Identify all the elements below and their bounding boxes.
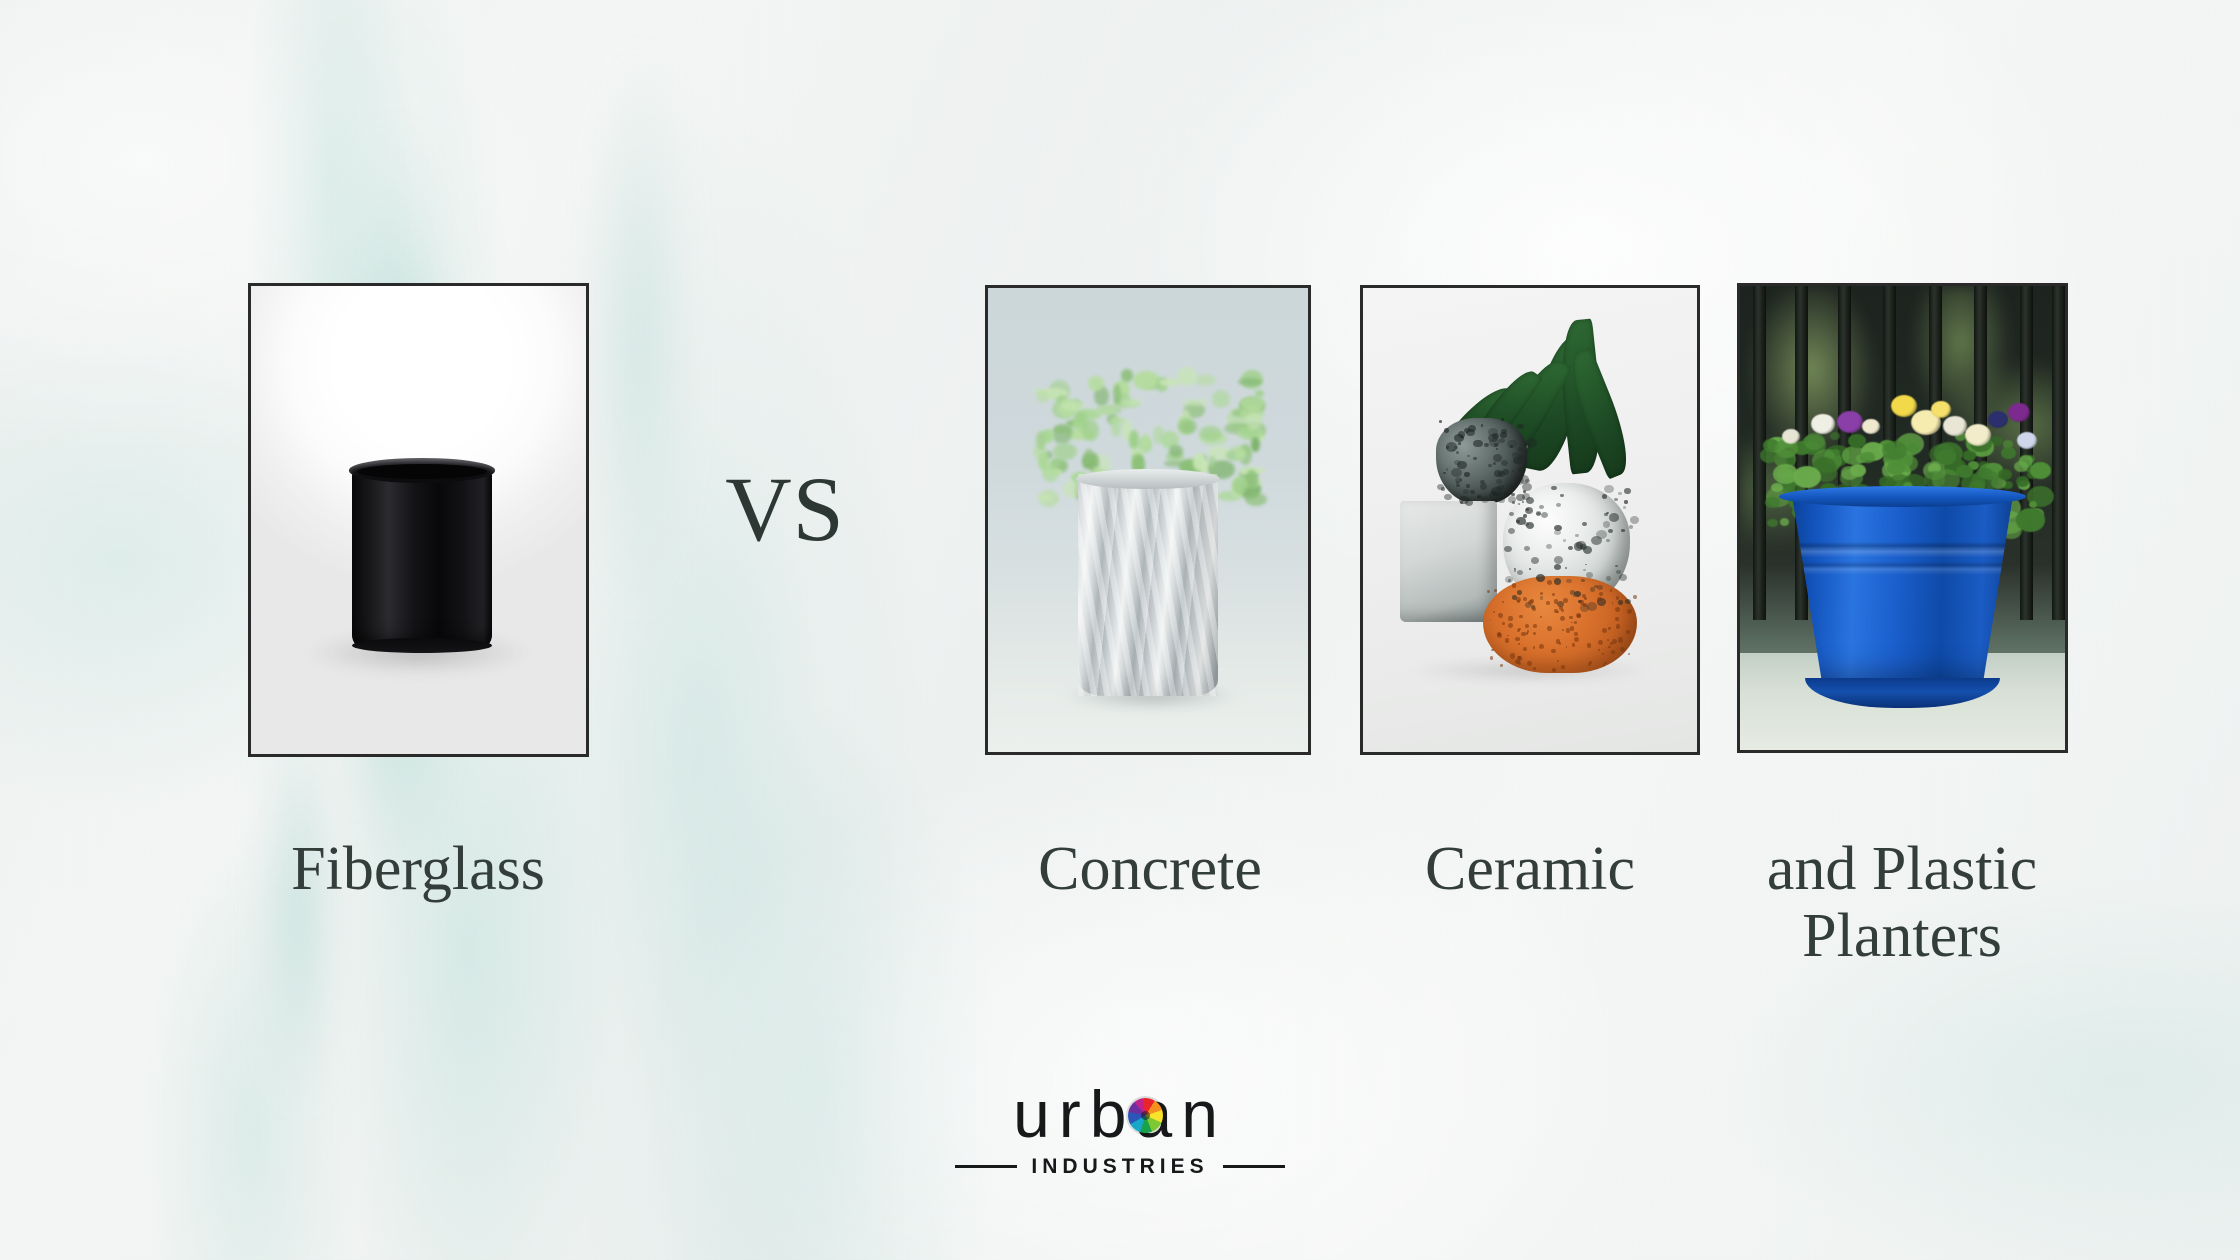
foliage-leaf bbox=[1130, 448, 1144, 455]
ceramic-orange-fleck bbox=[1626, 630, 1630, 634]
ceramic-speck bbox=[1512, 452, 1519, 458]
pansy-bloom bbox=[1931, 401, 1951, 418]
ceramic-speck bbox=[1518, 467, 1525, 473]
ceramic-orange-fleck bbox=[1633, 595, 1637, 599]
ceramic-speck bbox=[1439, 420, 1442, 423]
versus-label: VS bbox=[700, 463, 870, 555]
planter-leaf bbox=[2001, 447, 2016, 459]
pansy-bloom bbox=[2008, 403, 2030, 422]
ceramic-speck bbox=[1590, 587, 1596, 592]
ceramic-speck bbox=[1615, 565, 1618, 567]
planter-leaf bbox=[1767, 519, 1778, 528]
ceramic-orange-fleck bbox=[1494, 589, 1497, 592]
ceramic-speck bbox=[1510, 445, 1513, 448]
ceramic-speck bbox=[1517, 590, 1522, 594]
ceramic-speck bbox=[1444, 428, 1449, 432]
ceramic-orange-fleck bbox=[1628, 653, 1630, 655]
ceramic-orange-fleck bbox=[1510, 653, 1515, 658]
product-image-ceramic bbox=[1360, 285, 1700, 755]
ceramic-orange-fleck bbox=[1608, 627, 1610, 629]
logo-wordmark-letter-a-wrap: a bbox=[1135, 1081, 1181, 1147]
ceramic-speck bbox=[1604, 513, 1608, 516]
foliage-leaf bbox=[1255, 390, 1264, 396]
pansy-bloom bbox=[1862, 419, 1880, 434]
planter-leaf bbox=[1793, 466, 1821, 488]
ceramic-orange-fleck bbox=[1551, 649, 1555, 653]
plastic-photo bbox=[1740, 286, 2065, 750]
ceramic-orange-fleck bbox=[1500, 664, 1503, 667]
ceramic-speck bbox=[1574, 591, 1581, 597]
ceramic-speck bbox=[1498, 497, 1504, 502]
ceramic-orange-fleck bbox=[1515, 637, 1519, 641]
ceramic-speck bbox=[1618, 492, 1622, 495]
foliage-leaf bbox=[1195, 374, 1216, 386]
planter-leaf bbox=[1963, 450, 1977, 461]
ceramic-speck bbox=[1461, 437, 1464, 439]
ceramic-orange-fleck bbox=[1599, 592, 1603, 596]
foliage-leaf bbox=[1082, 420, 1099, 441]
fiberglass-photo bbox=[251, 286, 586, 754]
ceramic-speck bbox=[1517, 447, 1523, 452]
ceramic-speck bbox=[1473, 457, 1477, 460]
logo-wordmark: urban bbox=[955, 1080, 1285, 1148]
ceramic-orange-fleck bbox=[1610, 642, 1613, 645]
ceramic-orange-fleck bbox=[1588, 663, 1591, 666]
ceramic-speck bbox=[1581, 579, 1584, 582]
ceramic-speck bbox=[1554, 564, 1561, 570]
product-image-concrete bbox=[985, 285, 1311, 755]
ceramic-speck bbox=[1526, 522, 1534, 529]
ceramic-orange-fleck bbox=[1597, 597, 1601, 601]
ceramic-speck bbox=[1609, 513, 1619, 521]
foliage-leaf bbox=[1121, 399, 1142, 406]
ceramic-orange-fleck bbox=[1518, 656, 1522, 660]
ceramic-orange-fleck bbox=[1521, 632, 1526, 637]
ceramic-orange-fleck bbox=[1557, 660, 1559, 662]
ceramic-speck bbox=[1496, 479, 1502, 484]
ceramic-orange-fleck bbox=[1518, 643, 1520, 645]
pansy-bloom bbox=[1943, 416, 1967, 436]
planter-leaf bbox=[2029, 501, 2037, 508]
ceramic-speck bbox=[1441, 487, 1445, 491]
foliage-leaf bbox=[1037, 493, 1053, 502]
ceramic-orange-fleck bbox=[1517, 629, 1520, 632]
ceramic-speck bbox=[1606, 539, 1609, 542]
ceramic-orange-fleck bbox=[1607, 639, 1609, 641]
ceramic-speck bbox=[1541, 512, 1548, 518]
logo-tagline-row: INDUSTRIES bbox=[955, 1156, 1285, 1177]
fiberglass-pot-body bbox=[352, 466, 493, 649]
ceramic-speck bbox=[1629, 525, 1634, 529]
foliage-leaf bbox=[1084, 449, 1094, 465]
ceramic-photo bbox=[1363, 288, 1697, 752]
foliage-leaf bbox=[1245, 493, 1266, 506]
foliage-leaf bbox=[1053, 443, 1077, 460]
railing-bar bbox=[2052, 286, 2065, 620]
foliage-leaf bbox=[1177, 367, 1197, 386]
foliage-leaf bbox=[1169, 445, 1183, 457]
foliage-leaf bbox=[1042, 463, 1059, 483]
ceramic-speck bbox=[1518, 503, 1520, 505]
ceramic-speck bbox=[1497, 485, 1503, 490]
ceramic-speck bbox=[1504, 546, 1512, 552]
planter-leaf bbox=[2016, 508, 2046, 532]
ceramic-orange-fleck bbox=[1508, 623, 1513, 628]
concrete-photo bbox=[988, 288, 1308, 752]
ceramic-pot-square bbox=[1400, 501, 1497, 622]
ceramic-speck bbox=[1477, 495, 1481, 499]
ceramic-speck bbox=[1473, 440, 1482, 448]
planter-leaf bbox=[1765, 497, 1779, 509]
ceramic-orange-fleck bbox=[1574, 632, 1578, 636]
ceramic-orange-fleck bbox=[1561, 665, 1564, 668]
ceramic-speck bbox=[1517, 570, 1523, 575]
foliage-leaf bbox=[1193, 453, 1206, 471]
ceramic-speck bbox=[1512, 501, 1515, 504]
ceramic-speck bbox=[1519, 454, 1523, 458]
ceramic-speck bbox=[1563, 539, 1566, 542]
ceramic-orange-fleck bbox=[1540, 592, 1543, 595]
foliage-leaf bbox=[1113, 384, 1121, 404]
ceramic-speck bbox=[1587, 602, 1597, 611]
ceramic-speck bbox=[1526, 438, 1537, 447]
logo-wordmark-part-1: urb bbox=[1013, 1081, 1135, 1147]
logo-wordmark-part-3: n bbox=[1181, 1081, 1227, 1147]
foliage-leaf bbox=[1159, 379, 1179, 386]
ceramic-orange-fleck bbox=[1519, 615, 1523, 619]
ceramic-speck bbox=[1556, 503, 1561, 507]
foliage-leaf bbox=[1246, 412, 1262, 428]
planter-leaf bbox=[1882, 441, 1907, 461]
ceramic-speck bbox=[1464, 472, 1469, 477]
pansy-bloom bbox=[1811, 414, 1835, 434]
ceramic-orange-fleck bbox=[1560, 616, 1565, 621]
ceramic-orange-fleck bbox=[1574, 637, 1579, 642]
ceramic-orange-fleck bbox=[1615, 607, 1620, 612]
foliage-leaf bbox=[1095, 406, 1116, 414]
ceramic-orange-fleck bbox=[1490, 656, 1494, 660]
ceramic-orange-fleck bbox=[1602, 628, 1607, 633]
foliage-leaf bbox=[1036, 431, 1046, 450]
foliage-leaf bbox=[1251, 437, 1260, 452]
ceramic-speck bbox=[1467, 455, 1470, 457]
ceramic-speck bbox=[1444, 494, 1452, 500]
ceramic-speck bbox=[1500, 432, 1506, 437]
logo-rule-left bbox=[955, 1165, 1017, 1168]
ceramic-speck bbox=[1509, 512, 1514, 516]
ceramic-orange-fleck bbox=[1547, 626, 1552, 631]
foliage-leaf bbox=[1232, 477, 1247, 495]
ceramic-orange-fleck bbox=[1547, 580, 1552, 585]
planter-leaf bbox=[1830, 432, 1840, 440]
ceramic-speck bbox=[1618, 600, 1623, 604]
ceramic-speck bbox=[1630, 516, 1639, 524]
logo-tagline: INDUSTRIES bbox=[1031, 1156, 1208, 1177]
ceramic-speck bbox=[1488, 464, 1491, 467]
ceramic-orange-fleck bbox=[1563, 598, 1568, 603]
planter-leaf bbox=[1848, 434, 1866, 448]
ceramic-speck bbox=[1576, 541, 1586, 550]
ceramic-orange-fleck bbox=[1523, 647, 1527, 651]
ceramic-speck bbox=[1591, 536, 1602, 545]
product-image-fiberglass bbox=[248, 283, 589, 757]
planter-leaf bbox=[1860, 452, 1875, 464]
foliage-leaf bbox=[1212, 390, 1231, 407]
fiberglass-pot-opening bbox=[357, 464, 487, 479]
foliage-leaf bbox=[1178, 419, 1198, 435]
ceramic-orange-fleck bbox=[1574, 621, 1577, 624]
foliage-leaf bbox=[1088, 376, 1104, 392]
ceramic-speck bbox=[1524, 546, 1530, 551]
pansy-bloom bbox=[1837, 411, 1863, 433]
ceramic-speck bbox=[1480, 483, 1487, 489]
foliage-leaf bbox=[1054, 426, 1072, 433]
ceramic-speck bbox=[1540, 596, 1544, 599]
ceramic-speck bbox=[1466, 484, 1471, 488]
ceramic-orange-fleck bbox=[1533, 646, 1536, 649]
ceramic-pot-orange bbox=[1483, 576, 1637, 673]
ceramic-speck bbox=[1501, 418, 1504, 420]
ceramic-speck bbox=[1624, 500, 1628, 503]
caption-ceramic: Ceramic bbox=[1330, 836, 1730, 903]
ceramic-speck bbox=[1514, 570, 1516, 572]
logo-rule-right bbox=[1223, 1165, 1285, 1168]
ceramic-speck bbox=[1554, 525, 1562, 532]
pansy-bloom bbox=[2017, 432, 2037, 449]
caption-plastic: and Plastic Planters bbox=[1712, 836, 2092, 970]
ceramic-speck bbox=[1551, 486, 1556, 491]
ceramic-orange-fleck bbox=[1533, 624, 1537, 628]
ceramic-speck bbox=[1606, 576, 1611, 580]
concrete-pot-body bbox=[1078, 474, 1219, 697]
foliage-leaf bbox=[1121, 369, 1133, 382]
ceramic-speck bbox=[1554, 556, 1563, 564]
foliage-leaf bbox=[1073, 414, 1088, 422]
ceramic-speck bbox=[1616, 570, 1621, 574]
ceramic-orange-fleck bbox=[1580, 600, 1585, 605]
caption-concrete: Concrete bbox=[930, 836, 1370, 903]
ceramic-speck bbox=[1525, 507, 1533, 514]
ceramic-speck bbox=[1623, 506, 1626, 509]
brand-logo: urban INDUSTRIES bbox=[955, 1080, 1285, 1190]
foliage-leaf bbox=[1199, 426, 1222, 442]
ceramic-orange-fleck bbox=[1505, 638, 1509, 642]
foliage-leaf bbox=[1153, 426, 1164, 444]
ceramic-speck bbox=[1446, 468, 1449, 470]
ceramic-orange-fleck bbox=[1611, 650, 1615, 654]
ceramic-speck bbox=[1536, 511, 1540, 515]
ceramic-speck bbox=[1516, 517, 1526, 525]
ceramic-speck bbox=[1504, 492, 1508, 495]
concrete-pot-facets bbox=[1078, 474, 1219, 697]
ceramic-speck bbox=[1621, 529, 1624, 532]
ceramic-orange-fleck bbox=[1584, 597, 1586, 599]
product-image-plastic bbox=[1737, 283, 2068, 753]
ceramic-speck bbox=[1560, 494, 1564, 497]
poster-canvas: VS bbox=[0, 0, 2240, 1260]
ceramic-orange-fleck bbox=[1604, 662, 1607, 665]
pansy-bloom bbox=[1988, 411, 2008, 428]
foliage-leaf bbox=[1036, 390, 1049, 403]
ceramic-orange-fleck bbox=[1616, 624, 1620, 628]
ceramic-speck bbox=[1619, 574, 1627, 581]
ceramic-speck bbox=[1531, 557, 1539, 564]
foliage-leaf bbox=[1182, 399, 1208, 407]
caption-fiberglass: Fiberglass bbox=[178, 836, 658, 903]
ceramic-speck bbox=[1583, 569, 1585, 571]
ceramic-orange-fleck bbox=[1497, 632, 1501, 636]
ceramic-speck bbox=[1586, 572, 1593, 578]
ceramic-speck bbox=[1624, 488, 1630, 493]
planter-leaf bbox=[1850, 464, 1866, 477]
ceramic-speck bbox=[1459, 496, 1468, 504]
ceramic-speck bbox=[1568, 546, 1573, 550]
ceramic-orange-fleck bbox=[1608, 646, 1610, 648]
ceramic-orange-fleck bbox=[1508, 616, 1512, 620]
ceramic-orange-fleck bbox=[1533, 632, 1536, 635]
ceramic-orange-fleck bbox=[1598, 649, 1600, 651]
ceramic-speck bbox=[1456, 451, 1459, 454]
planter-leaf bbox=[1780, 518, 1790, 526]
planter-leaf bbox=[1998, 469, 2012, 480]
foliage-leaf bbox=[1208, 456, 1216, 468]
